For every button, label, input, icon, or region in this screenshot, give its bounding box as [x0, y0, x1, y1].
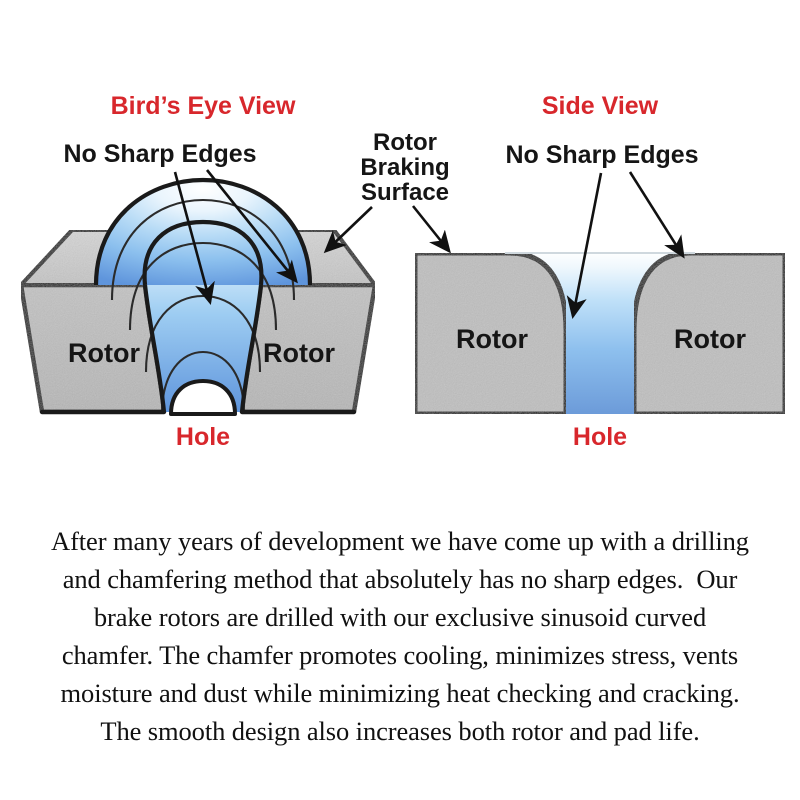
birds-eye-hole-label: Hole: [176, 423, 230, 451]
svg-text:Braking: Braking: [360, 154, 449, 181]
side-view-rotor-label-left: Rotor: [456, 324, 528, 354]
paragraph-line: and chamfering method that absolutely ha…: [10, 560, 790, 598]
birds-eye-no-sharp-edges-label: No Sharp Edges: [63, 140, 256, 168]
rotor-chamfer-illustration: Bird’s Eye View No Sharp Edges Rotor Bra…: [0, 0, 800, 510]
birds-eye-rotor-label-left: Rotor: [68, 338, 140, 368]
birds-eye-rotor-label-right: Rotor: [263, 338, 335, 368]
braking-surface-arrow-right: [413, 206, 449, 251]
side-view-title: Side View: [542, 92, 659, 120]
svg-text:Surface: Surface: [361, 179, 449, 206]
paragraph-line: The smooth design also increases both ro…: [10, 712, 790, 750]
paragraph-line: brake rotors are drilled with our exclus…: [10, 598, 790, 636]
birds-eye-view-title: Bird’s Eye View: [111, 92, 296, 120]
side-view-group: Side View No Sharp Edges Rotor Rotor Hol…: [413, 92, 785, 451]
rotor-braking-surface-label: Rotor Braking Surface: [360, 129, 449, 206]
svg-text:Rotor: Rotor: [373, 129, 437, 156]
side-view-no-sharp-edges-label: No Sharp Edges: [505, 141, 698, 169]
paragraph-line: After many years of development we have …: [10, 522, 790, 560]
description-paragraph: After many years of development we have …: [10, 522, 790, 750]
side-no-sharp-edges-arrow-right: [630, 172, 683, 256]
birds-eye-view-group: Bird’s Eye View No Sharp Edges Rotor Bra…: [21, 92, 450, 451]
side-view-rotor-label-right: Rotor: [674, 324, 746, 354]
side-view-hole-label: Hole: [573, 423, 627, 451]
paragraph-line: chamfer. The chamfer promotes cooling, m…: [10, 636, 790, 674]
paragraph-line: moisture and dust while minimizing heat …: [10, 674, 790, 712]
